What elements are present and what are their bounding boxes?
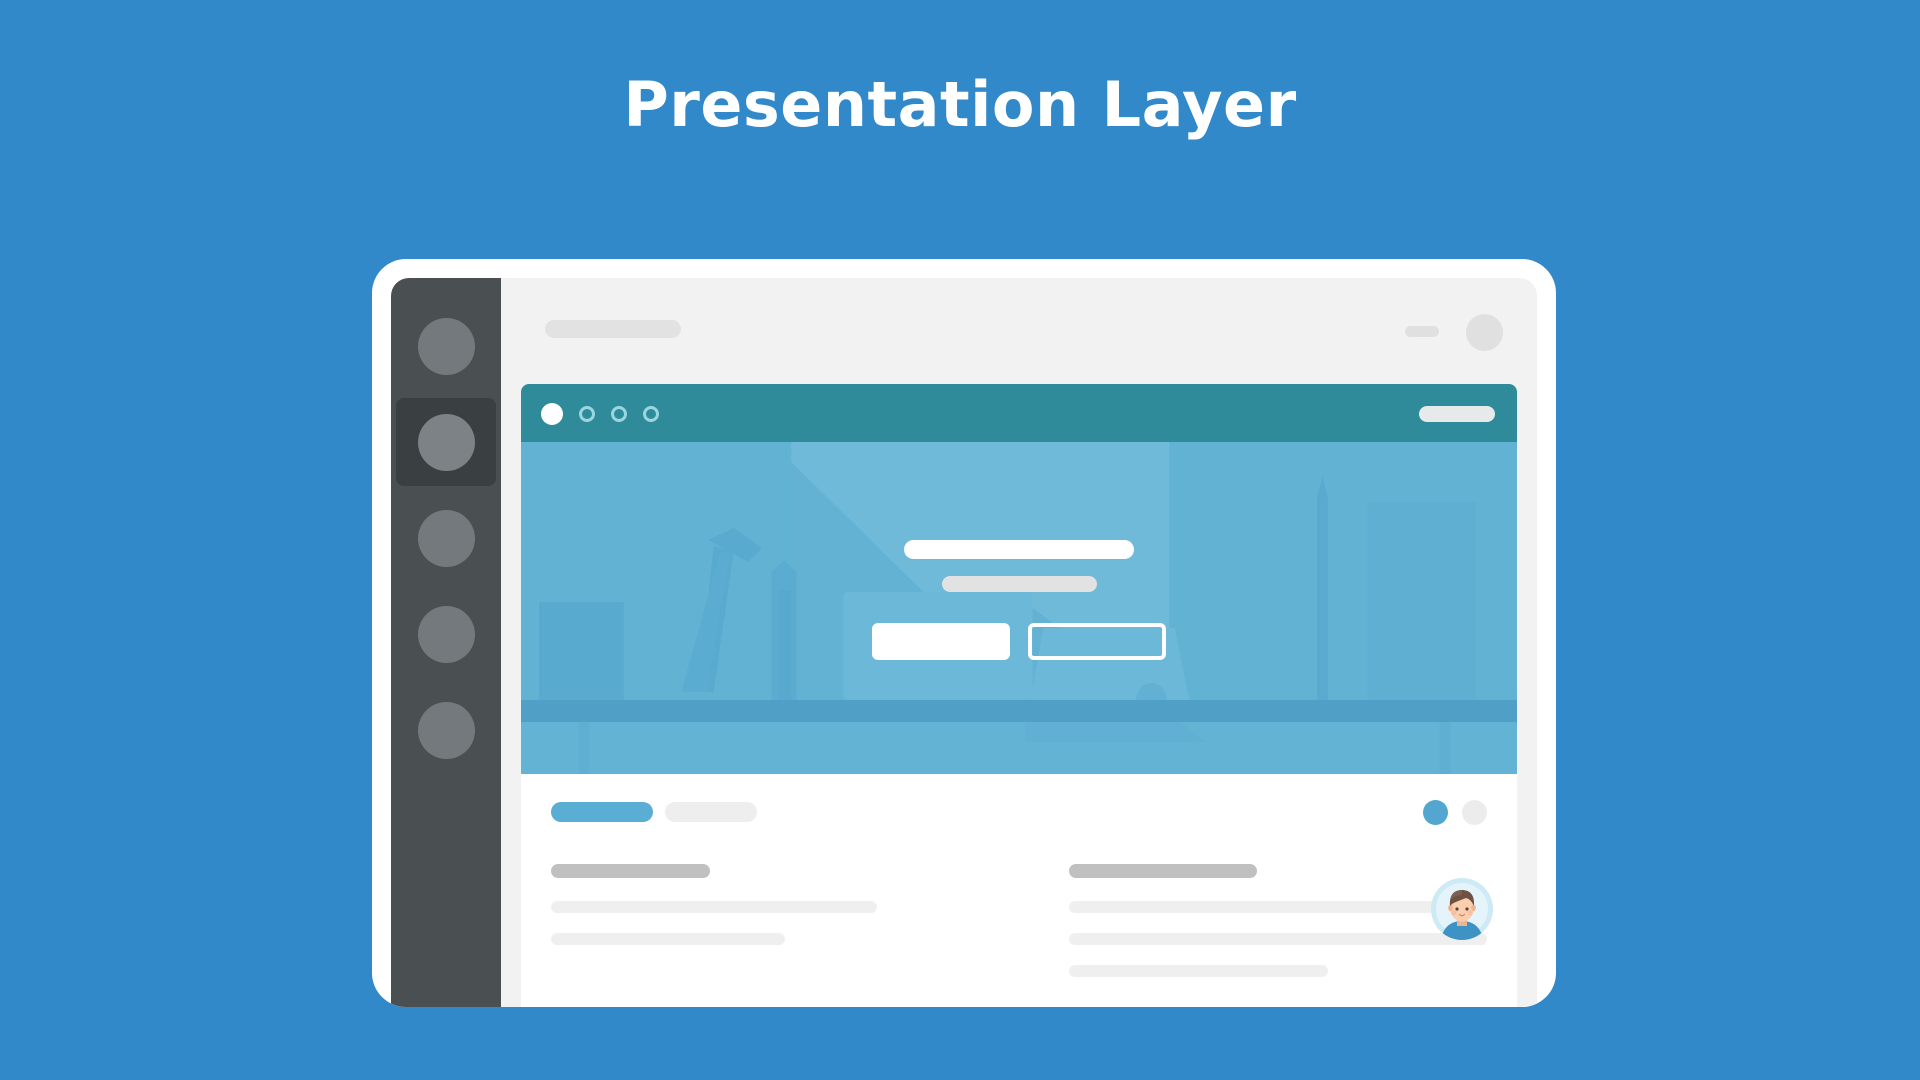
column-text-line — [551, 901, 877, 913]
content-column-right — [1069, 864, 1487, 997]
pagination-dots — [1423, 800, 1487, 825]
browser-chrome — [521, 384, 1517, 442]
sidebar-item-2[interactable] — [396, 398, 496, 486]
pagination-dot-2[interactable] — [1462, 800, 1487, 825]
circle-icon — [418, 606, 475, 663]
hero-subheadline-placeholder — [942, 576, 1097, 592]
sidebar-item-4[interactable] — [396, 590, 496, 678]
browser-tab-2[interactable] — [579, 406, 595, 422]
browser-window — [521, 384, 1517, 1007]
content-column-left — [551, 864, 969, 997]
app-titlebar — [501, 278, 1537, 384]
column-heading-placeholder — [551, 864, 710, 878]
circle-icon — [418, 702, 475, 759]
content-tab-active[interactable] — [551, 802, 653, 822]
pagination-dot-1[interactable] — [1423, 800, 1448, 825]
hero-button-group — [872, 623, 1166, 660]
column-heading-placeholder — [1069, 864, 1257, 878]
content-columns — [551, 864, 1487, 997]
circle-icon — [418, 414, 475, 471]
avatar-illustration — [1431, 878, 1493, 940]
app-title-placeholder — [545, 320, 681, 338]
column-text-line — [1069, 965, 1328, 977]
user-avatar[interactable] — [1431, 878, 1493, 940]
content-tab-inactive[interactable] — [665, 802, 757, 822]
circle-icon — [418, 318, 475, 375]
column-text-line — [1069, 901, 1487, 913]
column-text-line — [1069, 933, 1487, 945]
tablet-device-frame — [372, 259, 1556, 1007]
hero-content — [521, 540, 1517, 660]
browser-tab-3[interactable] — [611, 406, 627, 422]
tablet-screen — [391, 278, 1537, 1007]
hero-primary-button[interactable] — [872, 623, 1010, 660]
browser-tab-4[interactable] — [643, 406, 659, 422]
column-text-line — [551, 933, 785, 945]
address-bar[interactable] — [1419, 406, 1495, 422]
page-title: Presentation Layer — [0, 68, 1920, 141]
browser-tab-active[interactable] — [541, 403, 563, 425]
content-tab-bar — [551, 802, 1487, 822]
content-section — [521, 774, 1517, 1007]
minimize-icon[interactable] — [1405, 326, 1439, 337]
hero-banner — [521, 442, 1517, 774]
sidebar-item-3[interactable] — [396, 494, 496, 582]
hero-headline-placeholder — [904, 540, 1134, 559]
sidebar-item-5[interactable] — [396, 686, 496, 774]
app-sidebar — [391, 278, 501, 1007]
hero-secondary-button[interactable] — [1028, 623, 1166, 660]
circle-icon — [418, 510, 475, 567]
window-menu-button[interactable] — [1466, 314, 1503, 351]
app-window — [501, 278, 1537, 1007]
sidebar-item-1[interactable] — [396, 302, 496, 390]
